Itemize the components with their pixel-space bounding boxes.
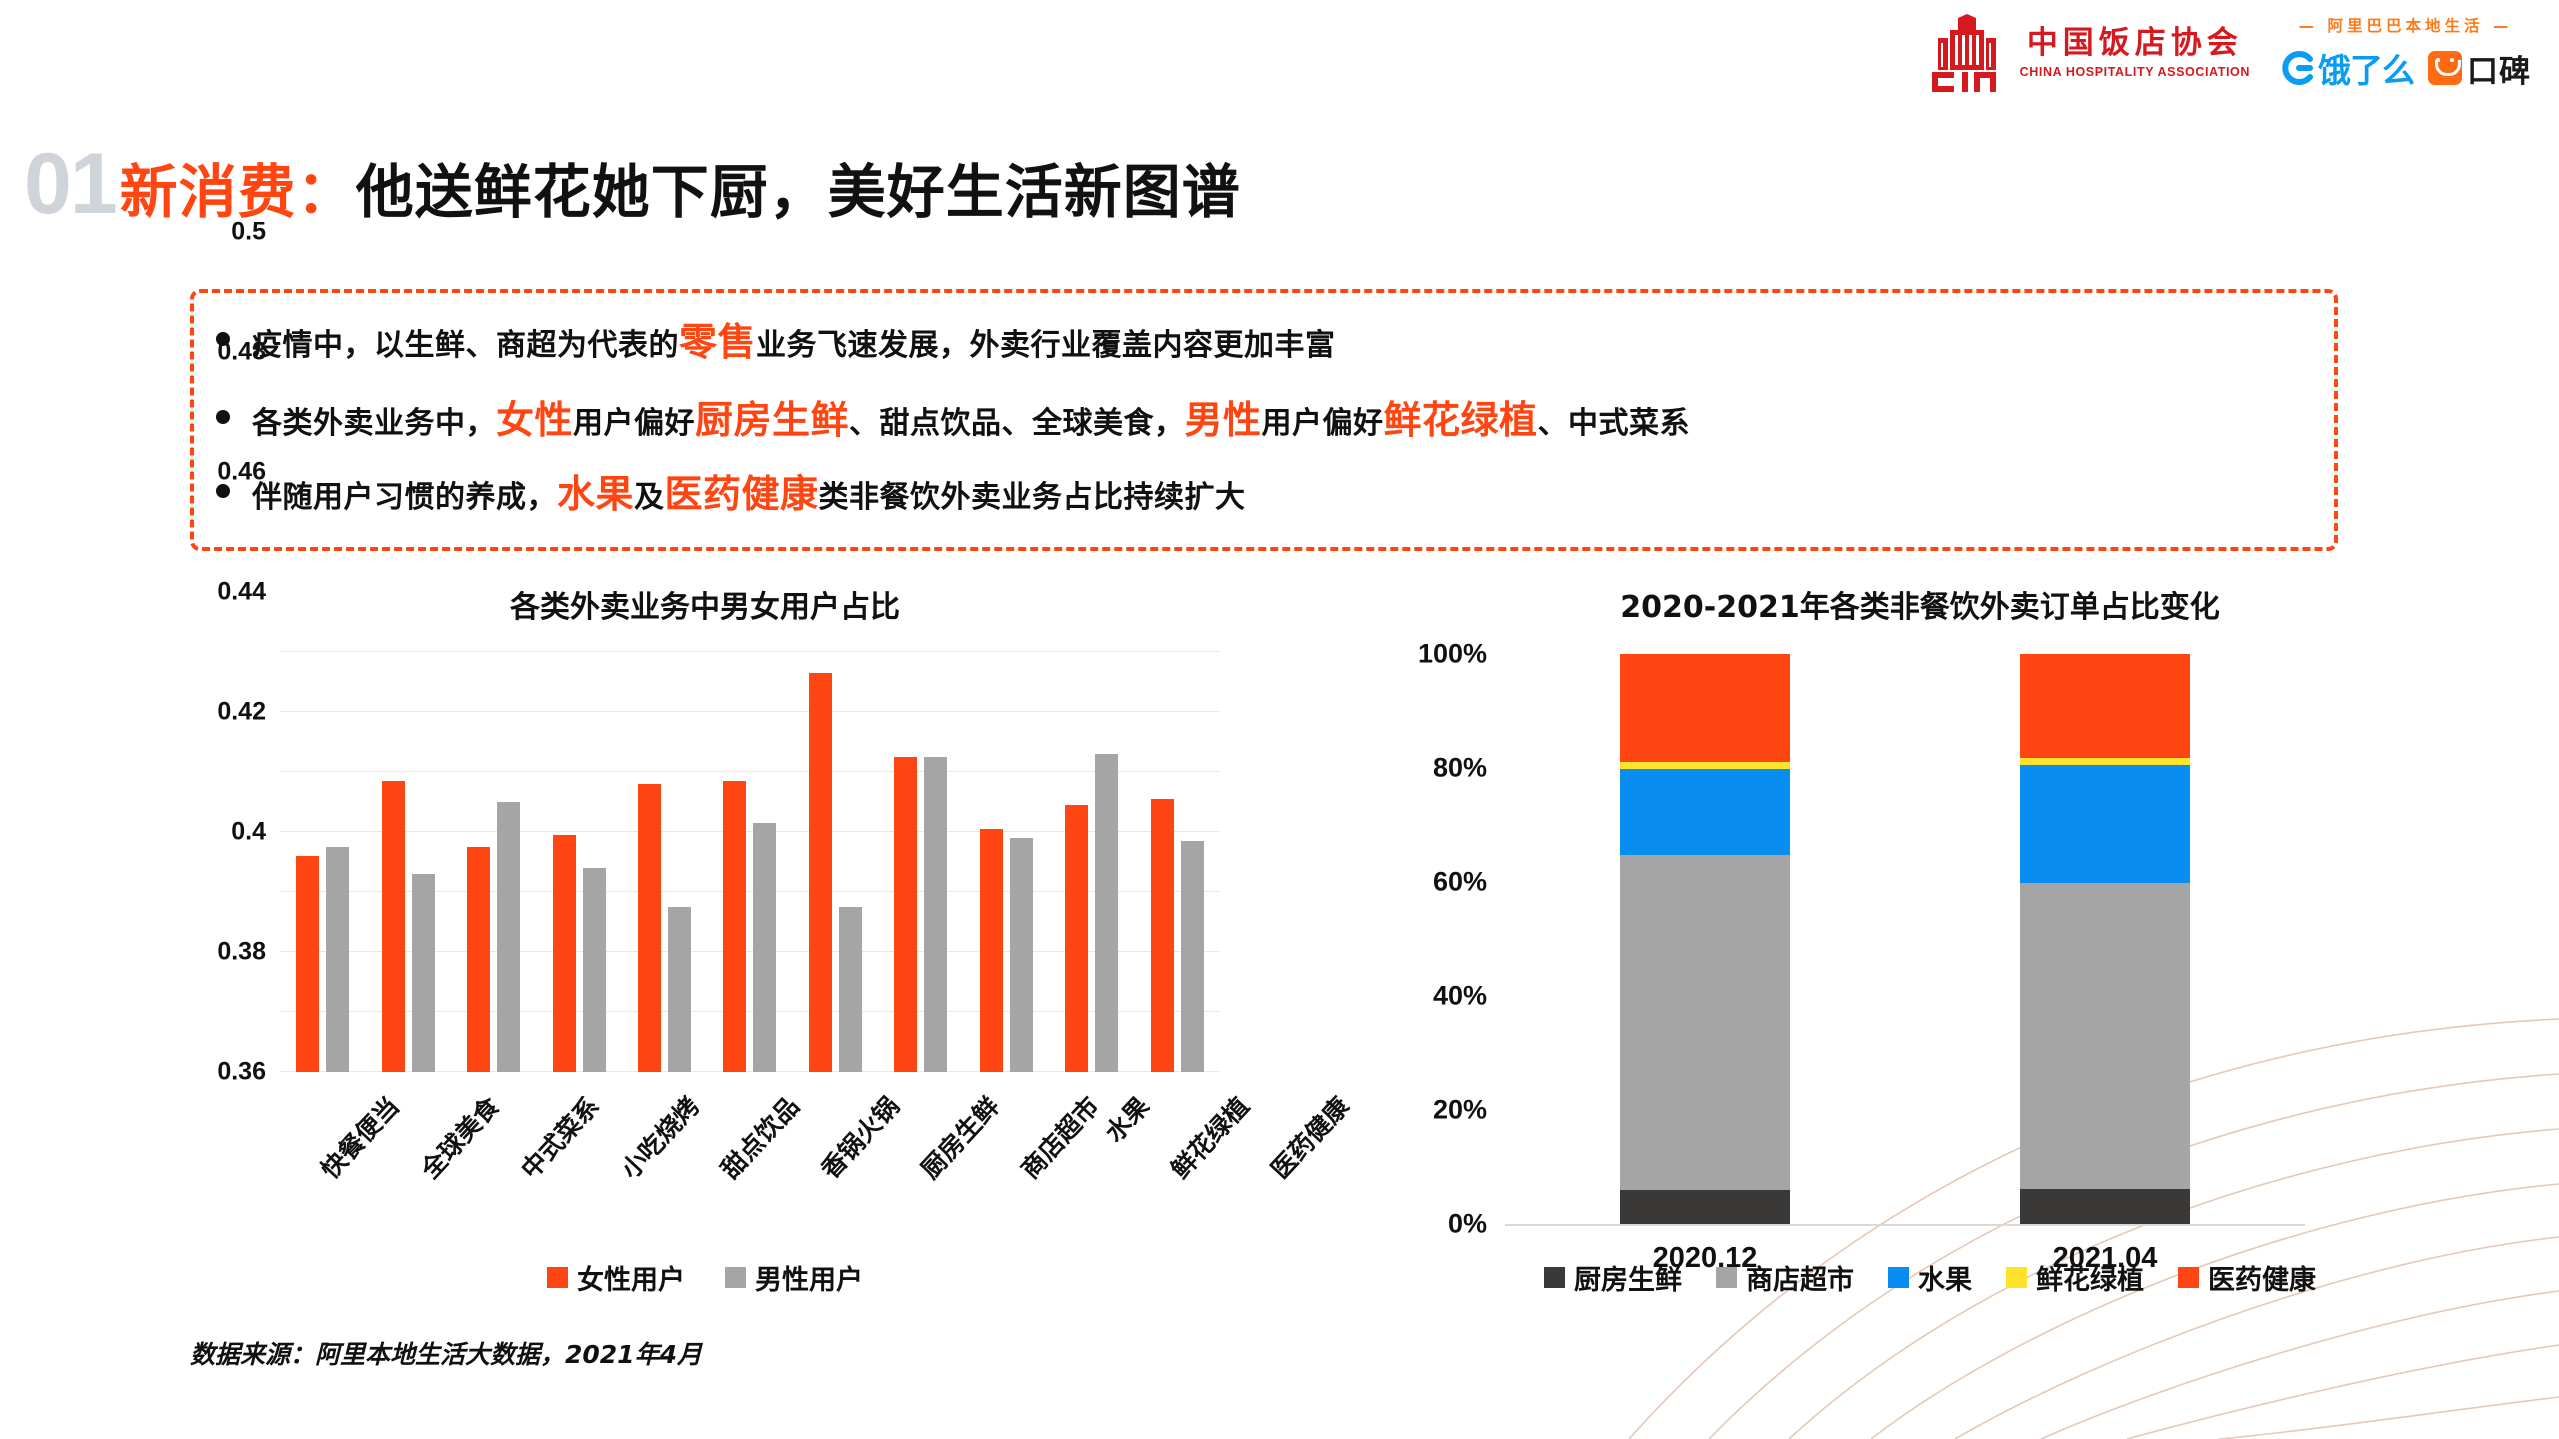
bar-group xyxy=(793,652,878,1072)
legend-swatch-icon xyxy=(1716,1267,1737,1288)
x-axis-tick-label: 小吃烧烤 xyxy=(612,1088,707,1186)
y-axis-tick-label: 100% xyxy=(1418,639,1487,670)
chart-left-xaxis: 快餐便当全球美食中式菜系小吃烧烤甜点饮品香锅火锅厨房生鲜商店超市水果鲜花绿植医药… xyxy=(280,1082,1220,1124)
y-axis-tick-label: 60% xyxy=(1433,867,1487,898)
chart-left-bars xyxy=(280,652,1220,1072)
bullet-item: 各类外卖业务中，女性用户偏好厨房生鲜、甜点饮品、全球美食，男性用户偏好鲜花绿植、… xyxy=(216,389,1690,444)
legend-item[interactable]: 厨房生鲜 xyxy=(1544,1258,1682,1297)
stack-segment xyxy=(1620,654,1790,762)
cha-logo-cn: 中国饭店协会 xyxy=(2027,28,2243,59)
chart-right-legend: 厨房生鲜商店超市水果鲜花绿植医药健康 xyxy=(1390,1258,2470,1297)
legend-item[interactable]: 女性用户 xyxy=(547,1258,685,1297)
legend-label: 医药健康 xyxy=(2208,1258,2316,1297)
bar-female xyxy=(638,784,661,1072)
logo-bar: 中国饭店协会 CHINA HOSPITALITY ASSOCIATION — 阿… xyxy=(1924,14,2531,92)
x-axis-cell: 快餐便当 xyxy=(280,1082,380,1124)
stack xyxy=(2020,654,2190,1224)
stack-segment xyxy=(1620,762,1790,769)
bullet-dot-icon xyxy=(216,410,230,424)
x-axis-tick-label: 甜点饮品 xyxy=(712,1088,807,1186)
y-axis-tick-label: 0% xyxy=(1448,1209,1487,1240)
y-axis-tick-label: 40% xyxy=(1433,981,1487,1012)
bullet-text-2: 各类外卖业务中，女性用户偏好厨房生鲜、甜点饮品、全球美食，男性用户偏好鲜花绿植、… xyxy=(252,389,1690,444)
y-axis-tick-label: 20% xyxy=(1433,1095,1487,1126)
x-axis-tick-label: 快餐便当 xyxy=(312,1088,407,1186)
chart-noncatering-share: 2020-2021年各类非餐饮外卖订单占比变化 100%80%60%40%20%… xyxy=(1330,582,2510,1372)
bar-male xyxy=(1095,754,1118,1072)
alibaba-local-services-logo: — 阿里巴巴本地生活 — 饿了么 口碑 xyxy=(2280,14,2531,92)
title-rest: 他送鲜花她下厨，美好生活新图谱 xyxy=(356,163,1241,221)
legend-item[interactable]: 医药健康 xyxy=(2178,1258,2316,1297)
legend-item[interactable]: 鲜花绿植 xyxy=(2006,1258,2144,1297)
stacked-column xyxy=(1905,654,2305,1224)
legend-swatch-icon xyxy=(2006,1267,2027,1288)
bar-female xyxy=(296,856,319,1072)
bar-male xyxy=(583,868,606,1072)
y-axis-tick-label: 0.5 xyxy=(231,218,266,247)
legend-item[interactable]: 商店超市 xyxy=(1716,1258,1854,1297)
legend-swatch-icon xyxy=(1544,1267,1565,1288)
stacked-column xyxy=(1505,654,1905,1224)
x-axis-tick-label: 鲜花绿植 xyxy=(1162,1088,1257,1186)
bar-male xyxy=(668,907,691,1072)
y-axis-tick-label: 0.36 xyxy=(217,1058,266,1087)
bar-female xyxy=(382,781,405,1072)
legend-label: 鲜花绿植 xyxy=(2036,1258,2144,1297)
bar-female xyxy=(894,757,917,1072)
legend-item[interactable]: 水果 xyxy=(1888,1258,1972,1297)
bar-male xyxy=(753,823,776,1072)
chart-left-plot: 0.50.480.460.440.420.40.380.36 xyxy=(280,652,1220,1072)
bar-group xyxy=(1049,652,1134,1072)
stack-segment xyxy=(2020,765,2190,883)
chart-right-title: 2020-2021年各类非餐饮外卖订单占比变化 xyxy=(1330,582,2510,626)
bar-female xyxy=(809,673,832,1072)
stack-segment xyxy=(2020,758,2190,765)
x-axis-tick-label: 厨房生鲜 xyxy=(912,1088,1007,1186)
legend-label: 水果 xyxy=(1918,1258,1972,1297)
chart-left-title: 各类外卖业务中男女用户占比 xyxy=(150,582,1260,626)
bar-male xyxy=(497,802,520,1072)
x-axis-tick-label: 全球美食 xyxy=(412,1088,507,1186)
chart-gender-share: 各类外卖业务中男女用户占比 0.50.480.460.440.420.40.38… xyxy=(150,582,1260,1372)
y-axis-tick-label: 0.46 xyxy=(217,458,266,487)
bar-female xyxy=(1065,805,1088,1072)
koubei-logo: 口碑 xyxy=(2428,46,2531,91)
x-axis-tick-label: 中式菜系 xyxy=(512,1088,607,1186)
legend-item[interactable]: 男性用户 xyxy=(725,1258,863,1297)
bullet-item: 伴随用户习惯的养成，水果及医药健康类非餐饮外卖业务占比持续扩大 xyxy=(216,463,1246,518)
bullet-text-3: 伴随用户习惯的养成，水果及医药健康类非餐饮外卖业务占比持续扩大 xyxy=(252,463,1246,518)
stack xyxy=(1620,654,1790,1224)
bar-group xyxy=(964,652,1049,1072)
bar-female xyxy=(980,829,1003,1072)
legend-label: 男性用户 xyxy=(755,1258,863,1297)
y-axis-tick-label: 0.38 xyxy=(217,938,266,967)
cha-logo-en: CHINA HOSPITALITY ASSOCIATION xyxy=(2020,66,2250,79)
title-highlight: 新消费： xyxy=(120,163,356,221)
cha-building-icon xyxy=(1924,14,2010,92)
bar-male xyxy=(326,847,349,1072)
koubei-smile-icon xyxy=(2428,51,2462,85)
eleme-logo-text: 饿了么 xyxy=(2318,44,2414,92)
bar-group xyxy=(707,652,792,1072)
bar-group xyxy=(365,652,450,1072)
bar-group xyxy=(878,652,963,1072)
bar-male xyxy=(412,874,435,1072)
alibaba-tagline: — 阿里巴巴本地生活 — xyxy=(2299,14,2513,36)
cha-logo: 中国饭店协会 CHINA HOSPITALITY ASSOCIATION xyxy=(1924,14,2250,92)
legend-label: 商店超市 xyxy=(1746,1258,1854,1297)
legend-label: 厨房生鲜 xyxy=(1574,1258,1682,1297)
eleme-logo: 饿了么 xyxy=(2280,44,2414,92)
x-axis-tick-label: 商店超市 xyxy=(1012,1088,1107,1186)
bar-group xyxy=(536,652,621,1072)
bar-male xyxy=(1181,841,1204,1072)
key-findings-box: 疫情中，以生鲜、商超为代表的零售业务飞速发展，外卖行业覆盖内容更加丰富 各类外卖… xyxy=(190,289,2338,551)
source-note: 数据来源：阿里本地生活大数据，2021年4月 xyxy=(190,1335,702,1371)
stack-segment xyxy=(1620,1190,1790,1224)
section-number: 01 xyxy=(24,148,116,221)
koubei-logo-text: 口碑 xyxy=(2467,46,2531,91)
legend-swatch-icon xyxy=(1888,1267,1909,1288)
bar-group xyxy=(622,652,707,1072)
bar-female xyxy=(723,781,746,1072)
bar-female xyxy=(553,835,576,1072)
chart-right-columns xyxy=(1505,654,2305,1224)
y-axis-tick-label: 0.44 xyxy=(217,578,266,607)
stack-segment xyxy=(2020,883,2190,1189)
stack-segment xyxy=(1620,855,1790,1190)
legend-swatch-icon xyxy=(725,1267,746,1288)
bar-group xyxy=(1135,652,1220,1072)
bar-group xyxy=(280,652,365,1072)
y-axis-tick-label: 0.48 xyxy=(217,338,266,367)
eleme-e-icon xyxy=(2280,50,2316,86)
stack-segment xyxy=(2020,654,2190,758)
y-axis-tick-label: 80% xyxy=(1433,753,1487,784)
bar-female xyxy=(467,847,490,1072)
bar-group xyxy=(451,652,536,1072)
bar-male xyxy=(924,757,947,1072)
stack-segment xyxy=(2020,1189,2190,1224)
bullet-item: 疫情中，以生鲜、商超为代表的零售业务飞速发展，外卖行业覆盖内容更加丰富 xyxy=(216,311,1336,366)
legend-swatch-icon xyxy=(547,1267,568,1288)
bar-male xyxy=(1010,838,1033,1072)
page-title: 01 新消费： 他送鲜花她下厨，美好生活新图谱 xyxy=(24,148,1241,221)
chart-right-plot: 100%80%60%40%20%0% xyxy=(1505,654,2305,1226)
y-axis-tick-label: 0.4 xyxy=(231,818,266,847)
legend-swatch-icon xyxy=(2178,1267,2199,1288)
legend-label: 女性用户 xyxy=(577,1258,685,1297)
x-axis-tick-label: 香锅火锅 xyxy=(812,1088,907,1186)
chart-left-legend: 女性用户男性用户 xyxy=(150,1258,1260,1297)
y-axis-tick-label: 0.42 xyxy=(217,698,266,727)
bar-male xyxy=(839,907,862,1072)
bullet-text-1: 疫情中，以生鲜、商超为代表的零售业务飞速发展，外卖行业覆盖内容更加丰富 xyxy=(252,311,1336,366)
bar-female xyxy=(1151,799,1174,1072)
stack-segment xyxy=(1620,769,1790,855)
